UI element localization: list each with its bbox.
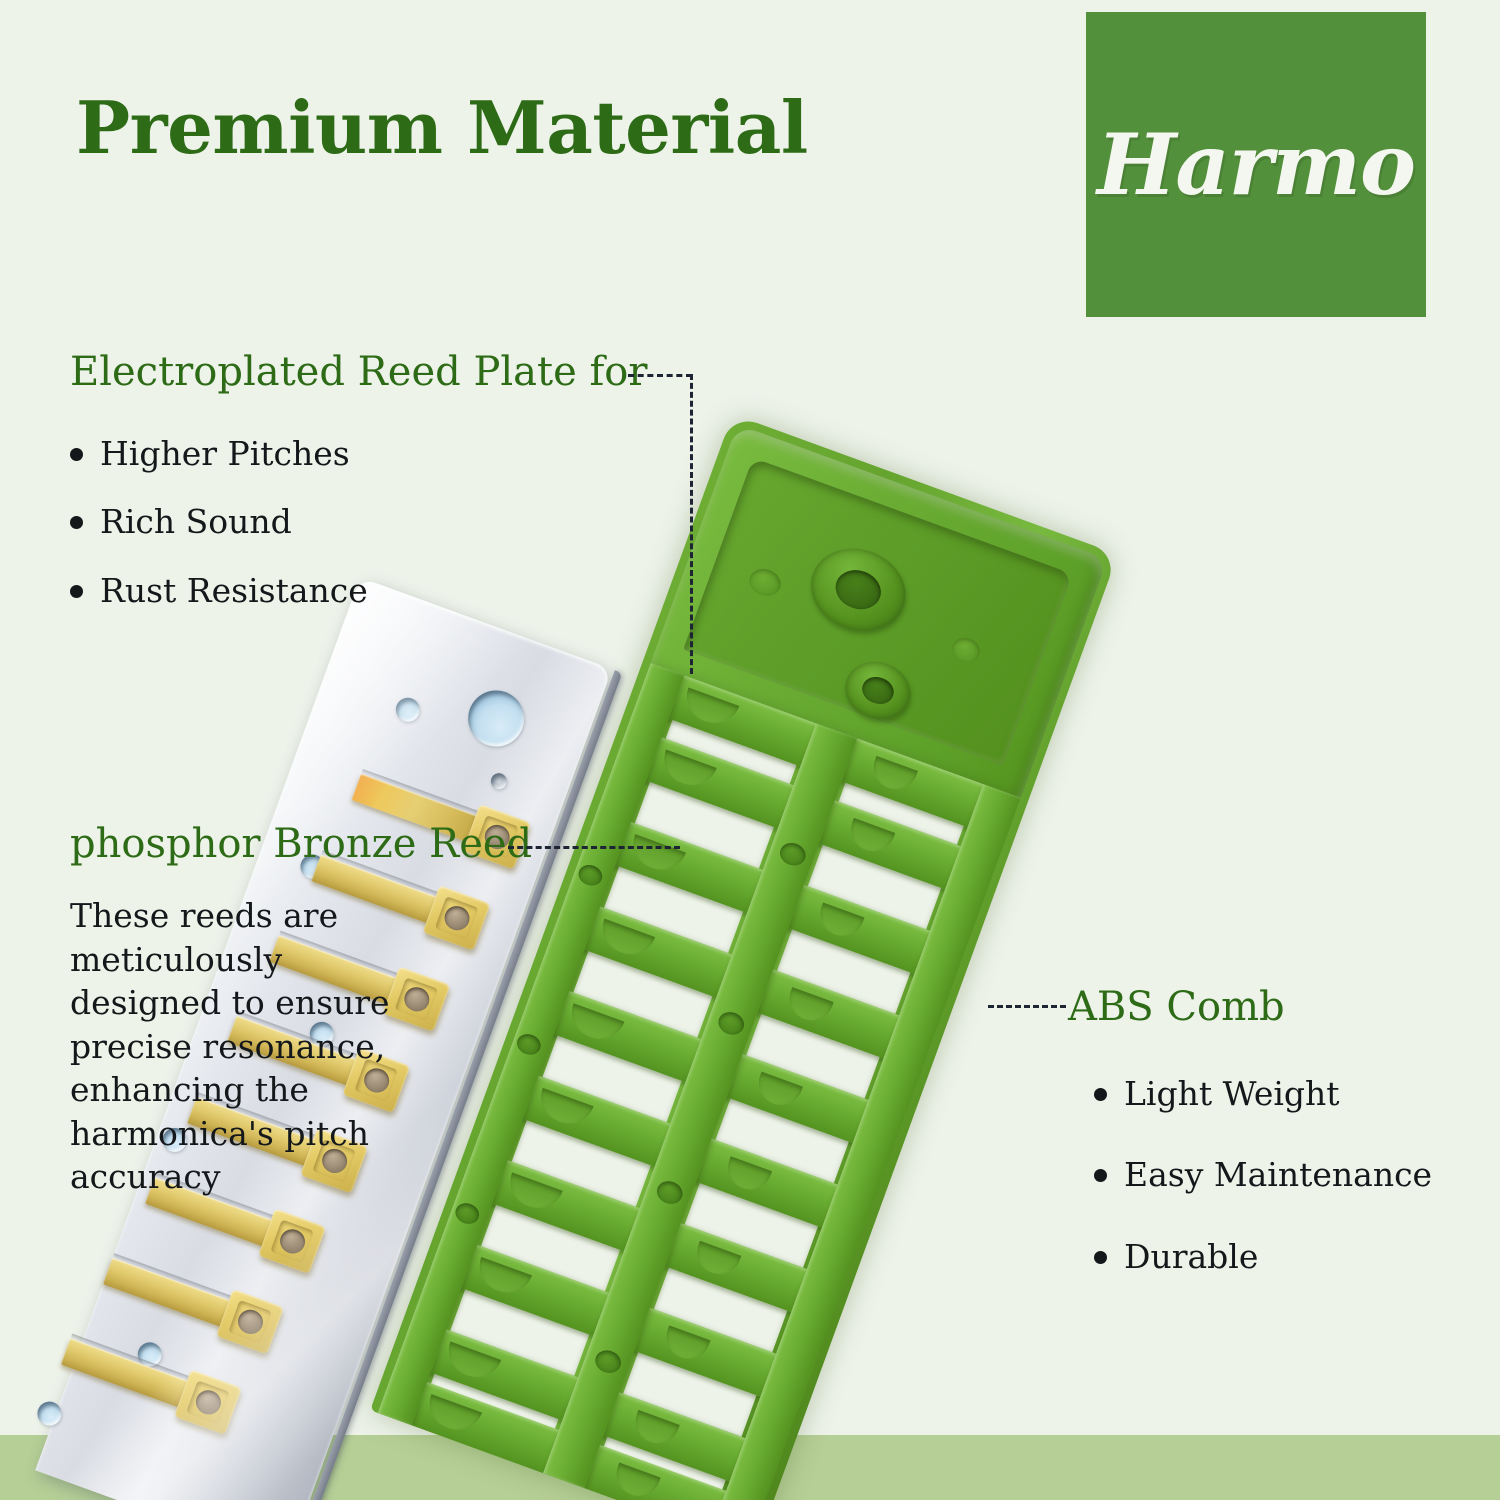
comb-cap-cavity: [683, 458, 1072, 766]
reed-rivet-pad: [174, 1369, 242, 1434]
leader-line-bronze-reed: [508, 846, 680, 849]
list-item-label: Rust Resistance: [100, 573, 368, 609]
list-item-label: Easy Maintenance: [1124, 1157, 1432, 1193]
brand-logo-wordmark: Harmo: [1097, 115, 1415, 214]
list-item: Easy Maintenance: [1094, 1157, 1432, 1193]
bullet-icon: [70, 516, 83, 529]
list-item: Rich Sound: [70, 504, 647, 540]
list-item: Rust Resistance: [70, 573, 647, 609]
annotation-paragraph-bronze-reed: These reeds are meticulously designed to…: [70, 894, 400, 1199]
comb-mould-dimple: [949, 634, 984, 666]
bullet-icon: [1094, 1251, 1107, 1264]
annotation-reed-plate: Electroplated Reed Plate for Higher Pitc…: [70, 350, 647, 641]
annotation-heading-reed-plate: Electroplated Reed Plate for: [70, 350, 647, 394]
bullet-icon: [70, 585, 83, 598]
plate-alignment-hole: [134, 1339, 165, 1370]
reed-rivet-pad: [216, 1289, 284, 1354]
leader-line-abs-comb: [988, 1005, 1066, 1008]
list-item: Light Weight: [1094, 1076, 1432, 1112]
annotation-heading-bronze-reed: phosphor Bronze Reed: [70, 822, 532, 866]
list-item-label: Higher Pitches: [100, 436, 350, 472]
list-item: Durable: [1094, 1239, 1432, 1275]
list-item: Higher Pitches: [70, 436, 647, 472]
phosphor-bronze-reed: [103, 1258, 235, 1329]
bullet-icon: [70, 448, 83, 461]
infographic-canvas: Premium Material Harmo Electroplated Ree…: [0, 0, 1500, 1500]
bottom-color-band: [0, 1435, 1500, 1500]
abs-comb-benefit-list: Light Weight Easy Maintenance Durable: [1094, 1076, 1432, 1275]
comb-mould-dimple: [746, 565, 785, 600]
reed-plate-benefit-list: Higher Pitches Rich Sound Rust Resistanc…: [70, 436, 647, 609]
plate-alignment-hole: [34, 1398, 65, 1429]
comb-screw-boss: [837, 653, 918, 728]
bullet-icon: [1094, 1088, 1107, 1101]
plate-screw-hole: [460, 683, 532, 755]
plate-alignment-hole: [392, 694, 423, 725]
phosphor-bronze-reed: [61, 1338, 193, 1409]
comb-screw-boss: [799, 536, 917, 644]
plate-alignment-hole: [489, 771, 510, 792]
list-item-label: Durable: [1124, 1239, 1258, 1275]
list-item-label: Light Weight: [1124, 1076, 1340, 1112]
leader-line-reed-plate-horizontal: [628, 374, 692, 377]
leader-line-reed-plate-vertical: [690, 374, 693, 674]
reed-rivet-pad: [258, 1208, 326, 1273]
annotation-abs-comb: ABS Comb Light Weight Easy Maintenance D…: [1068, 985, 1432, 1320]
comb-top-cap: [650, 424, 1107, 798]
list-item-label: Rich Sound: [100, 504, 292, 540]
page-title: Premium Material: [76, 85, 808, 170]
annotation-heading-abs-comb: ABS Comb: [1068, 985, 1432, 1029]
bullet-icon: [1094, 1169, 1107, 1182]
annotation-phosphor-bronze-reed: phosphor Bronze Reed These reeds are met…: [70, 822, 532, 1199]
brand-logo: Harmo: [1086, 12, 1426, 317]
